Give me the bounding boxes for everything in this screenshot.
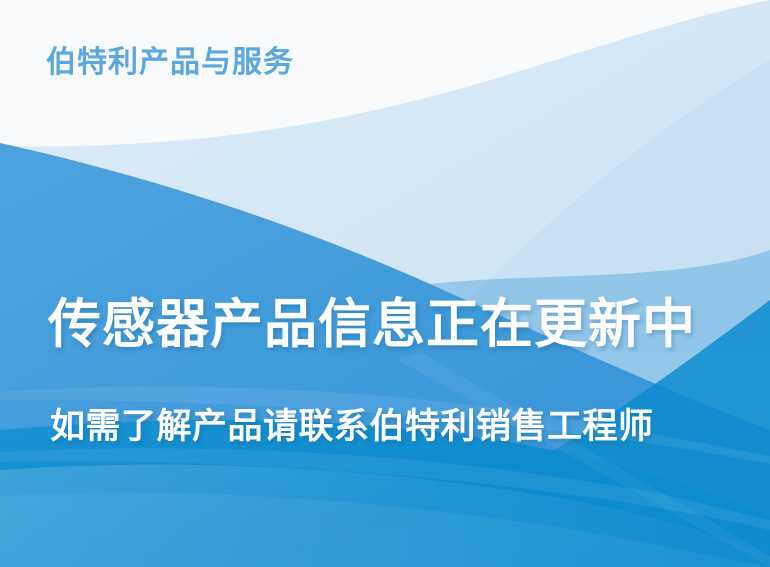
page-title: 伯特利产品与服务 [46,45,294,81]
background-wave-artwork [0,0,770,567]
headline-text: 传感器产品信息正在更新中 [48,296,696,354]
subheadline-text: 如需了解产品请联系伯特利销售工程师 [50,408,654,447]
product-banner: 伯特利产品与服务 传感器产品信息正在更新中 如需了解产品请联系伯特利销售工程师 [0,0,770,567]
